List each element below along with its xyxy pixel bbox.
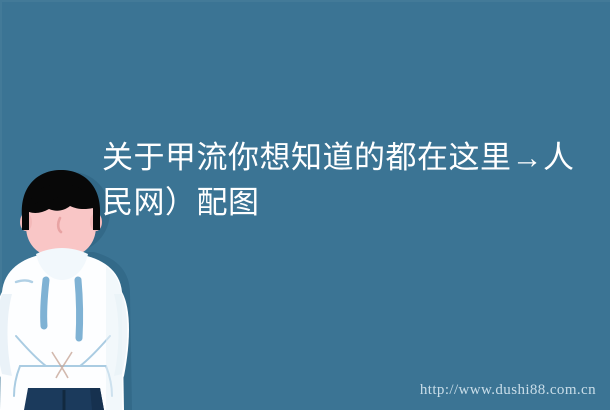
image-canvas: 关于甲流你想知道的都在这里→人民网）配图 http://www.dushi88.… (0, 0, 610, 410)
pants (24, 388, 104, 410)
headline-text: 关于甲流你想知道的都在这里→人民网）配图 (102, 135, 602, 225)
drawstring-right (78, 280, 80, 338)
hoodie (0, 248, 129, 410)
watermark-url: http://www.dushi88.com.cn (420, 382, 596, 399)
drawstring-left (44, 280, 46, 326)
hoodie-shade-right (106, 266, 122, 410)
